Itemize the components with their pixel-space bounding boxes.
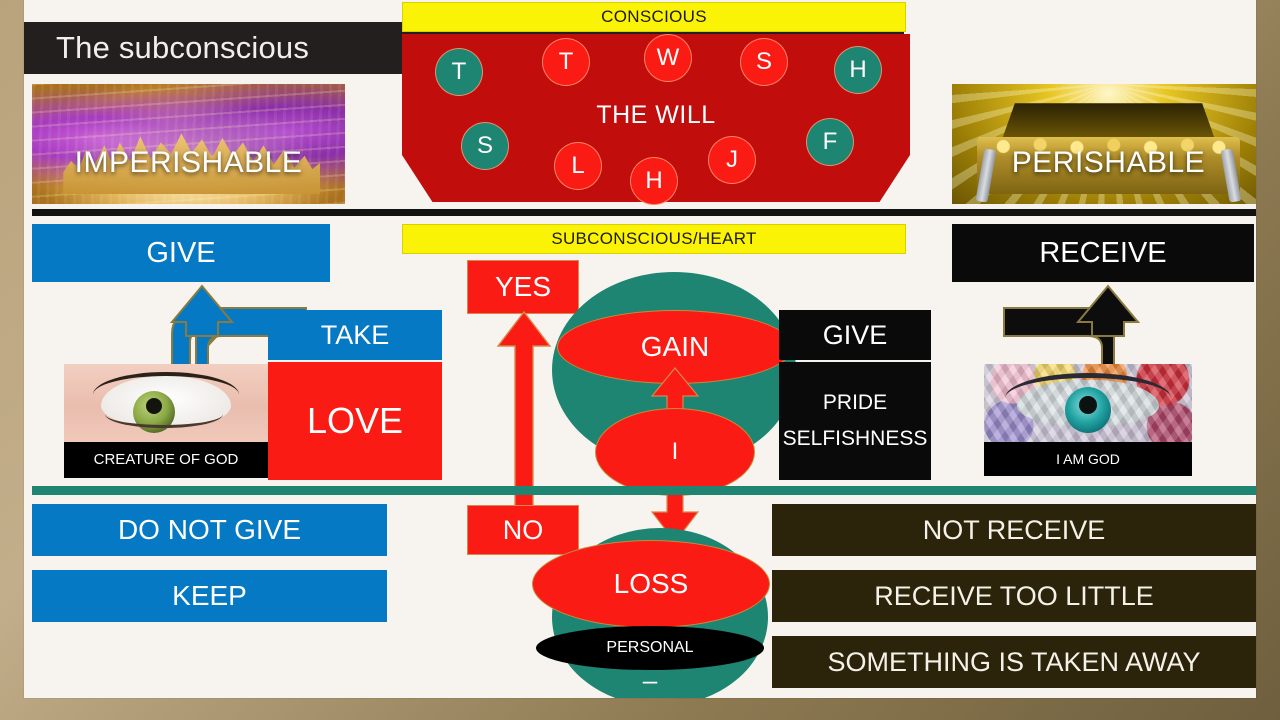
- self-label: I: [672, 438, 679, 466]
- divider-teal: [32, 486, 1256, 495]
- perishable-label: PERISHABLE: [952, 146, 1256, 180]
- i-am-god-caption: I AM GOD: [984, 442, 1192, 476]
- i-am-god-eye-image: [984, 364, 1192, 442]
- selfishness-label: SELFISHNESS: [783, 428, 928, 450]
- gain-label: GAIN: [641, 331, 709, 363]
- personal-label: PERSONAL: [606, 639, 693, 657]
- something-is-taken-away-bar[interactable]: SOMETHING IS TAKEN AWAY: [772, 636, 1256, 688]
- pride-label: PRIDE: [823, 392, 887, 414]
- faculty-letter: W: [657, 44, 680, 72]
- decorative-eyelash-lower: [105, 414, 223, 428]
- perishable-image: PERISHABLE: [952, 84, 1256, 204]
- right-receive-label: RECEIVE: [1039, 238, 1166, 268]
- faculty-dot-h2[interactable]: H: [630, 157, 678, 205]
- self-disc[interactable]: I: [595, 408, 755, 496]
- love-bar[interactable]: LOVE: [268, 362, 442, 480]
- love-label: LOVE: [307, 402, 403, 440]
- faculty-letter: T: [559, 48, 574, 76]
- right-give-bar[interactable]: GIVE: [779, 310, 931, 360]
- not-receive-bar[interactable]: NOT RECEIVE: [772, 504, 1256, 556]
- decorative-eyelash-upper: [93, 372, 240, 395]
- decorative-chest-lid: [1002, 103, 1215, 139]
- left-give-label: GIVE: [146, 238, 215, 268]
- yes-label: YES: [495, 272, 551, 301]
- loss-disc[interactable]: LOSS: [532, 540, 770, 628]
- no-label: NO: [503, 516, 544, 544]
- creature-of-god-caption: CREATURE OF GOD: [64, 442, 268, 478]
- decorative-pupil: [1079, 396, 1097, 414]
- personal-disc[interactable]: PERSONAL: [536, 626, 764, 670]
- creature-of-god-label: CREATURE OF GOD: [94, 452, 239, 468]
- not-receive-label: NOT RECEIVE: [923, 516, 1106, 544]
- take-label: TAKE: [321, 321, 390, 349]
- faculty-dot-j[interactable]: J: [708, 136, 756, 184]
- minus-sign: –: [620, 668, 680, 694]
- faculty-letter: T: [452, 58, 467, 86]
- faculty-dot-s1[interactable]: S: [740, 38, 788, 86]
- faculty-dot-f[interactable]: F: [806, 118, 854, 166]
- minus-label: –: [643, 667, 657, 694]
- self-to-gain-arrow-icon: [650, 368, 700, 412]
- faculty-dot-t1[interactable]: T: [435, 48, 483, 96]
- take-bar[interactable]: TAKE: [268, 310, 442, 360]
- pride-selfishness-box[interactable]: PRIDE SELFISHNESS: [779, 362, 931, 480]
- page-title: The subconscious: [24, 30, 309, 66]
- conscious-banner: CONSCIOUS: [402, 2, 906, 32]
- i-am-god-label: I AM GOD: [1056, 452, 1120, 467]
- subconscious-banner-label: SUBCONSCIOUS/HEART: [551, 230, 756, 248]
- faculty-letter: F: [823, 128, 838, 156]
- keep-bar[interactable]: KEEP: [32, 570, 387, 622]
- faculty-letter: H: [849, 56, 866, 84]
- no-box[interactable]: NO: [467, 505, 579, 555]
- right-give-label: GIVE: [823, 321, 888, 349]
- faculty-letter: H: [645, 167, 662, 195]
- yes-box[interactable]: YES: [467, 260, 579, 314]
- slide-canvas: The subconscious IMPERISHABLE PERISHABLE…: [24, 0, 1256, 698]
- faculty-letter: L: [571, 152, 584, 180]
- receive-too-little-label: RECEIVE TOO LITTLE: [874, 582, 1154, 610]
- creature-of-god-eye-image: [64, 364, 268, 442]
- subconscious-banner: SUBCONSCIOUS/HEART: [402, 224, 906, 254]
- divider-black: [32, 209, 1256, 216]
- conscious-banner-label: CONSCIOUS: [601, 8, 707, 26]
- faculty-dot-s2[interactable]: S: [461, 122, 509, 170]
- faculty-letter: S: [756, 48, 772, 76]
- faculty-letter: J: [726, 146, 738, 174]
- do-not-give-label: DO NOT GIVE: [118, 515, 301, 544]
- something-is-taken-away-label: SOMETHING IS TAKEN AWAY: [827, 648, 1200, 676]
- receive-too-little-bar[interactable]: RECEIVE TOO LITTLE: [772, 570, 1256, 622]
- right-receive-bar[interactable]: RECEIVE: [952, 224, 1254, 282]
- faculty-letter: S: [477, 132, 493, 160]
- faculty-dot-l[interactable]: L: [554, 142, 602, 190]
- faculty-dot-w[interactable]: W: [644, 34, 692, 82]
- faculty-dot-h1[interactable]: H: [834, 46, 882, 94]
- decorative-pupil: [146, 398, 162, 414]
- faculty-dot-t2[interactable]: T: [542, 38, 590, 86]
- do-not-give-bar[interactable]: DO NOT GIVE: [32, 504, 387, 556]
- loss-label: LOSS: [614, 568, 689, 600]
- keep-label: KEEP: [172, 581, 247, 610]
- imperishable-label: IMPERISHABLE: [32, 146, 345, 180]
- the-will-text: THE WILL: [596, 101, 715, 130]
- left-give-bar[interactable]: GIVE: [32, 224, 330, 282]
- receive-give-arrow-icon: [1004, 278, 1180, 374]
- imperishable-image: IMPERISHABLE: [32, 84, 345, 204]
